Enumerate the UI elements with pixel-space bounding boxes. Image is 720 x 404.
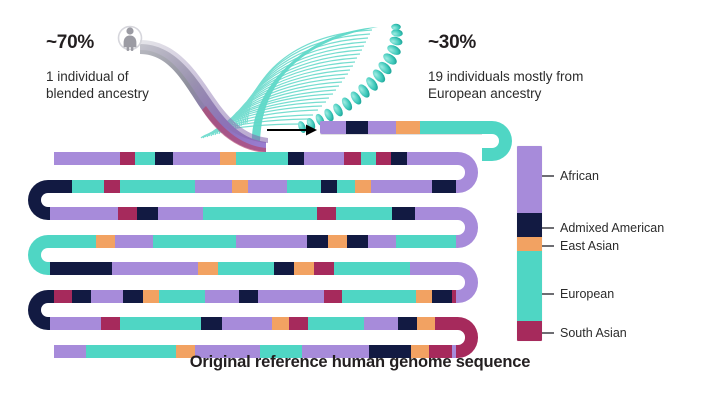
genome-segment (304, 152, 344, 165)
genome-segment (54, 207, 118, 220)
genome-segment (120, 152, 135, 165)
genome-segment (355, 180, 371, 193)
genome-segment (398, 317, 417, 330)
legend-label: African (560, 169, 599, 183)
legend-swatch-european (517, 251, 542, 321)
genome-segment (392, 207, 415, 220)
genome-segment (120, 180, 194, 193)
right-caption-line1: 19 individuals mostly from (428, 68, 583, 85)
genome-segment (201, 317, 222, 330)
genome-row (54, 262, 452, 275)
left-caption-line2: blended ancestry (46, 85, 149, 102)
genome-segment (342, 290, 417, 303)
genome-segment (101, 317, 120, 330)
genome-segment (135, 152, 155, 165)
right-caption: 19 individuals mostly from European ance… (428, 68, 583, 102)
genome-segment (54, 235, 96, 248)
genome-segment (173, 152, 219, 165)
genome-segment (205, 290, 239, 303)
legend-label: Admixed American (560, 221, 664, 235)
genome-segment (258, 290, 324, 303)
genome-row (54, 180, 452, 193)
genome-segment (218, 262, 274, 275)
genome-segment (337, 180, 355, 193)
genome-segment (158, 207, 202, 220)
legend-label: European (560, 287, 614, 301)
genome-segment (410, 262, 452, 275)
genome-segment (334, 262, 410, 275)
genome-row (54, 235, 452, 248)
genome-row (54, 152, 452, 165)
genome-segment (432, 180, 451, 193)
genome-segment (274, 262, 294, 275)
genome-segment (321, 180, 337, 193)
genome-segment (336, 207, 392, 220)
legend-leader-line (542, 175, 554, 177)
genome-segment (104, 180, 120, 193)
genome-segment (289, 317, 308, 330)
genome-segment (222, 317, 272, 330)
left-caption: 1 individual of blended ancestry (46, 68, 149, 102)
genome-segment (232, 180, 248, 193)
genome-segment (391, 152, 408, 165)
page-title: Original reference human genome sequence (0, 353, 720, 372)
genome-segment (294, 262, 314, 275)
genome-segment (159, 290, 205, 303)
genome-segment (287, 180, 321, 193)
legend-leader-line (542, 293, 554, 295)
legend-swatch-admixed-american (517, 213, 542, 237)
genome-segment (272, 317, 289, 330)
genome-segment (155, 152, 173, 165)
genome-segment (314, 262, 334, 275)
genome-segment (364, 317, 399, 330)
genome-segment (416, 290, 432, 303)
legend-swatch-south-asian (517, 321, 542, 341)
genome-segment (371, 180, 432, 193)
genome-segment (72, 290, 92, 303)
genome-segment (112, 262, 198, 275)
genome-segment (143, 290, 159, 303)
genome-segment (248, 180, 287, 193)
genome-segment (415, 207, 452, 220)
genome-segment (54, 290, 72, 303)
right-percentage-label: ~30% (428, 32, 476, 54)
legend-item-south-asian: South Asian (542, 326, 627, 340)
legend: AfricanAdmixed AmericanEast AsianEuropea… (517, 146, 717, 346)
genome-segment (236, 152, 287, 165)
genome-segment (435, 317, 452, 330)
genome-segment (328, 235, 347, 248)
genome-segment (307, 235, 328, 248)
legend-item-european: European (542, 287, 614, 301)
genome-segment (396, 235, 451, 248)
legend-item-east-asian: East Asian (542, 239, 619, 253)
genome-segment (203, 207, 317, 220)
genome-segment (432, 290, 452, 303)
genome-segment (344, 152, 361, 165)
legend-swatch-african (517, 146, 542, 213)
genome-segment (120, 317, 201, 330)
genome-segment (417, 317, 434, 330)
left-caption-line1: 1 individual of (46, 68, 149, 85)
genome-segment (54, 180, 72, 193)
genome-segment (361, 152, 376, 165)
legend-leader-line (542, 332, 554, 334)
genome-row (54, 290, 452, 303)
left-percentage-label: ~70% (46, 32, 94, 54)
legend-leader-line (542, 245, 554, 247)
genome-segment (220, 152, 237, 165)
genome-segment (54, 262, 112, 275)
legend-label: East Asian (560, 239, 619, 253)
genome-segment (324, 290, 342, 303)
genome-segment (153, 235, 235, 248)
legend-color-bar (517, 146, 542, 341)
genome-row (54, 317, 452, 330)
genome-segment (407, 152, 452, 165)
genome-segment (236, 235, 307, 248)
genome-segment (308, 317, 363, 330)
legend-swatch-east-asian (517, 237, 542, 251)
legend-item-african: African (542, 169, 599, 183)
main-caption-text: Original reference human genome sequence (190, 353, 530, 371)
genome-segment (91, 290, 123, 303)
genome-segment (198, 262, 218, 275)
genome-segment (195, 180, 232, 193)
diagram-canvas: ~70% 1 individual of blended ancestry ~3… (0, 0, 720, 404)
genome-segment (239, 290, 259, 303)
genome-segment (118, 207, 137, 220)
genome-segment (317, 207, 336, 220)
legend-leader-line (542, 227, 554, 229)
genome-segment (115, 235, 153, 248)
genome-segment (347, 235, 368, 248)
legend-label: South Asian (560, 326, 627, 340)
genome-segment (96, 235, 115, 248)
genome-segment (376, 152, 391, 165)
genome-segment (368, 235, 397, 248)
genome-row (54, 207, 452, 220)
genome-segment (54, 317, 101, 330)
genome-segment (72, 180, 104, 193)
right-caption-line2: European ancestry (428, 85, 583, 102)
genome-segment (123, 290, 143, 303)
genome-segment (288, 152, 305, 165)
legend-item-admixed-american: Admixed American (542, 221, 664, 235)
genome-segment (54, 152, 120, 165)
genome-segment (137, 207, 158, 220)
